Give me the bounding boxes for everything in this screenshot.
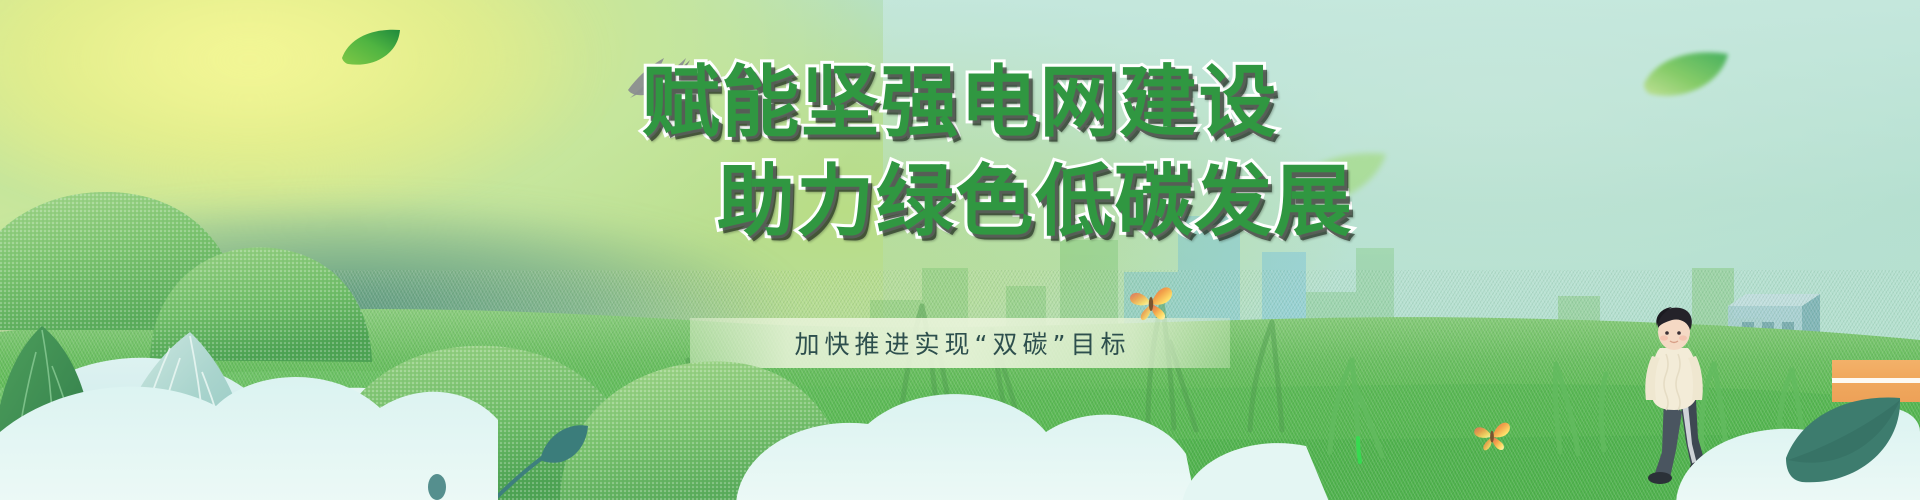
floating-leaf-icon	[340, 28, 404, 68]
foreground-leaf-shape	[428, 474, 446, 500]
floating-leaf-icon	[1640, 48, 1732, 104]
floating-leaf-icon	[1280, 150, 1390, 212]
eco-power-grid-banner: 赋能坚强电网建设 助力绿色低碳发展 加快推进实现“双碳”目标	[0, 0, 1920, 500]
foreground-leaf-shape	[1776, 386, 1920, 496]
butterfly-icon	[1128, 282, 1174, 322]
rounded-hill-shape	[0, 324, 1920, 500]
swallow-bird-icon	[620, 50, 698, 106]
